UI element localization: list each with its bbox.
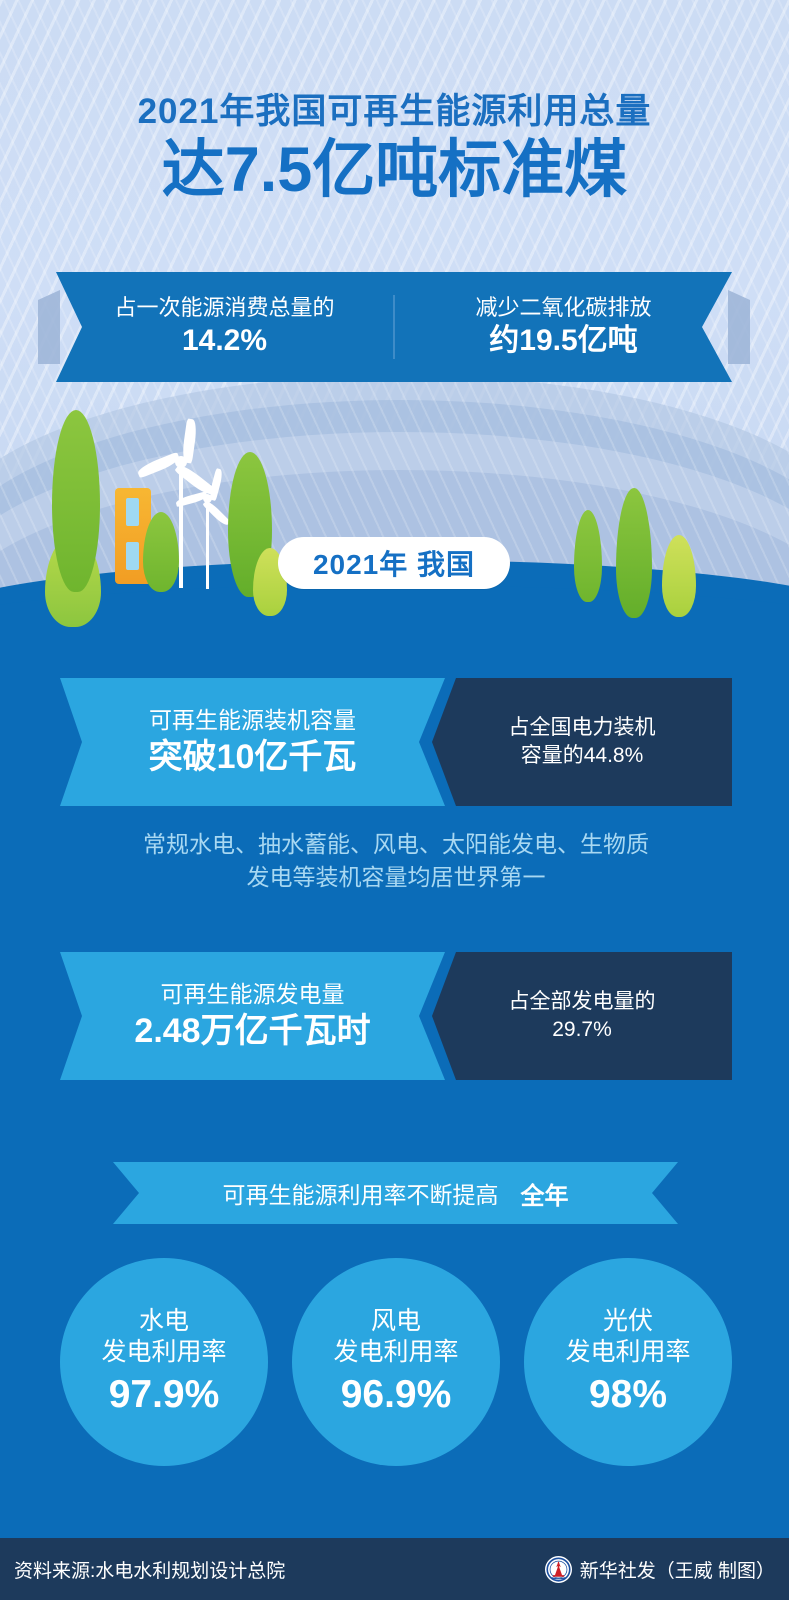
stat-block-capacity-share-line-2: 容量的44.8% [521,742,644,770]
header-stat-0-value: 14.2% [56,322,393,360]
building-window-icon [126,542,139,570]
building-window-icon [126,498,139,526]
utilization-circle-wind-metric: 发电利用率 [333,1337,458,1369]
page-title: 2021年我国可再生能源利用总量 达7.5亿吨标准煤 [0,92,789,206]
footer-credit: 新华社发（王威 制图） [580,1556,775,1583]
utilization-circle-hydro: 水电 发电利用率 97.9% [60,1258,268,1466]
year-badge-label: 2021年 我国 [313,543,475,583]
utilization-circle-solar-value: 98% [589,1372,667,1419]
utilization-circle-solar-metric: 发电利用率 [565,1337,690,1369]
stat-block-generation-share-line-1: 占全部发电量的 [509,988,656,1016]
header-stats-ribbon: 占一次能源消费总量的 14.2% 减少二氧化碳排放 约19.5亿吨 [56,272,732,382]
utilization-circle-wind-value: 96.9% [341,1372,452,1419]
header-stat-1-caption: 减少二氧化碳排放 [395,295,732,321]
utilization-circle-hydro-name: 水电 [139,1306,189,1338]
landscape-illustration [0,400,789,630]
footer-bar: 资料来源:水电水利规划设计总院 新华社发（王威 制图） [0,1538,789,1600]
capacity-note-line-2: 发电等装机容量均居世界第一 [60,861,732,894]
stat-block-capacity-caption: 可再生能源装机容量 [149,706,356,735]
stat-block-capacity: 可再生能源装机容量 突破10亿千瓦 占全国电力装机 容量的44.8% [60,678,732,806]
xinhua-logo-icon [545,1556,572,1583]
utilization-circle-solar-name: 光伏 [603,1306,653,1338]
header-stat-0-caption: 占一次能源消费总量的 [56,295,393,321]
stat-block-generation-share-line-2: 29.7% [552,1016,612,1044]
tree-icon [616,488,652,618]
utilization-circle-solar: 光伏 发电利用率 98% [524,1258,732,1466]
stat-block-capacity-value: 突破10亿千瓦 [149,736,357,778]
tree-icon [52,410,100,592]
header-stat-0: 占一次能源消费总量的 14.2% [56,295,395,360]
utilization-circle-wind: 风电 发电利用率 96.9% [292,1258,500,1466]
stat-block-generation-caption: 可再生能源发电量 [161,980,345,1009]
utilization-circle-hydro-metric: 发电利用率 [101,1337,226,1369]
stat-block-generation: 可再生能源发电量 2.48万亿千瓦时 占全部发电量的 29.7% [60,952,732,1080]
tree-icon [662,535,696,617]
wind-turbine-blade [181,418,198,463]
year-badge: 2021年 我国 [278,537,510,589]
header-stat-1: 减少二氧化碳排放 约19.5亿吨 [395,295,732,360]
stat-block-generation-value: 2.48万亿千瓦时 [134,1010,370,1052]
utilization-ribbon-title: 可再生能源利用率不断提高 [223,1176,499,1210]
utilization-ribbon: 可再生能源利用率不断提高 全年 [113,1162,678,1224]
stat-block-capacity-share: 占全国电力装机 容量的44.8% [432,678,732,806]
capacity-note-line-1: 常规水电、抽水蓄能、风电、太阳能发电、生物质 [60,828,732,861]
title-line-2: 达7.5亿吨标准煤 [0,135,789,206]
utilization-ribbon-emphasis: 全年 [521,1176,569,1211]
stat-block-capacity-main: 可再生能源装机容量 突破10亿千瓦 [60,678,445,806]
tree-icon [143,512,179,592]
capacity-note: 常规水电、抽水蓄能、风电、太阳能发电、生物质 发电等装机容量均居世界第一 [60,828,732,893]
stat-block-generation-share: 占全部发电量的 29.7% [432,952,732,1080]
utilization-circle-hydro-value: 97.9% [109,1372,220,1419]
header-stat-1-value: 约19.5亿吨 [395,322,732,360]
footer-source: 资料来源:水电水利规划设计总院 [14,1556,285,1583]
wind-turbine-pole [179,460,183,588]
title-line-1: 2021年我国可再生能源利用总量 [0,92,789,131]
stat-block-generation-main: 可再生能源发电量 2.48万亿千瓦时 [60,952,445,1080]
wind-turbine-blade [136,452,181,479]
utilization-circles: 水电 发电利用率 97.9% 风电 发电利用率 96.9% 光伏 发电利用率 9… [60,1258,732,1468]
utilization-circle-wind-name: 风电 [371,1306,421,1338]
infographic-poster: 2021年我国可再生能源利用总量 达7.5亿吨标准煤 占一次能源消费总量的 14… [0,0,789,1600]
tree-icon [574,510,602,602]
stat-block-capacity-share-line-1: 占全国电力装机 [509,714,656,742]
